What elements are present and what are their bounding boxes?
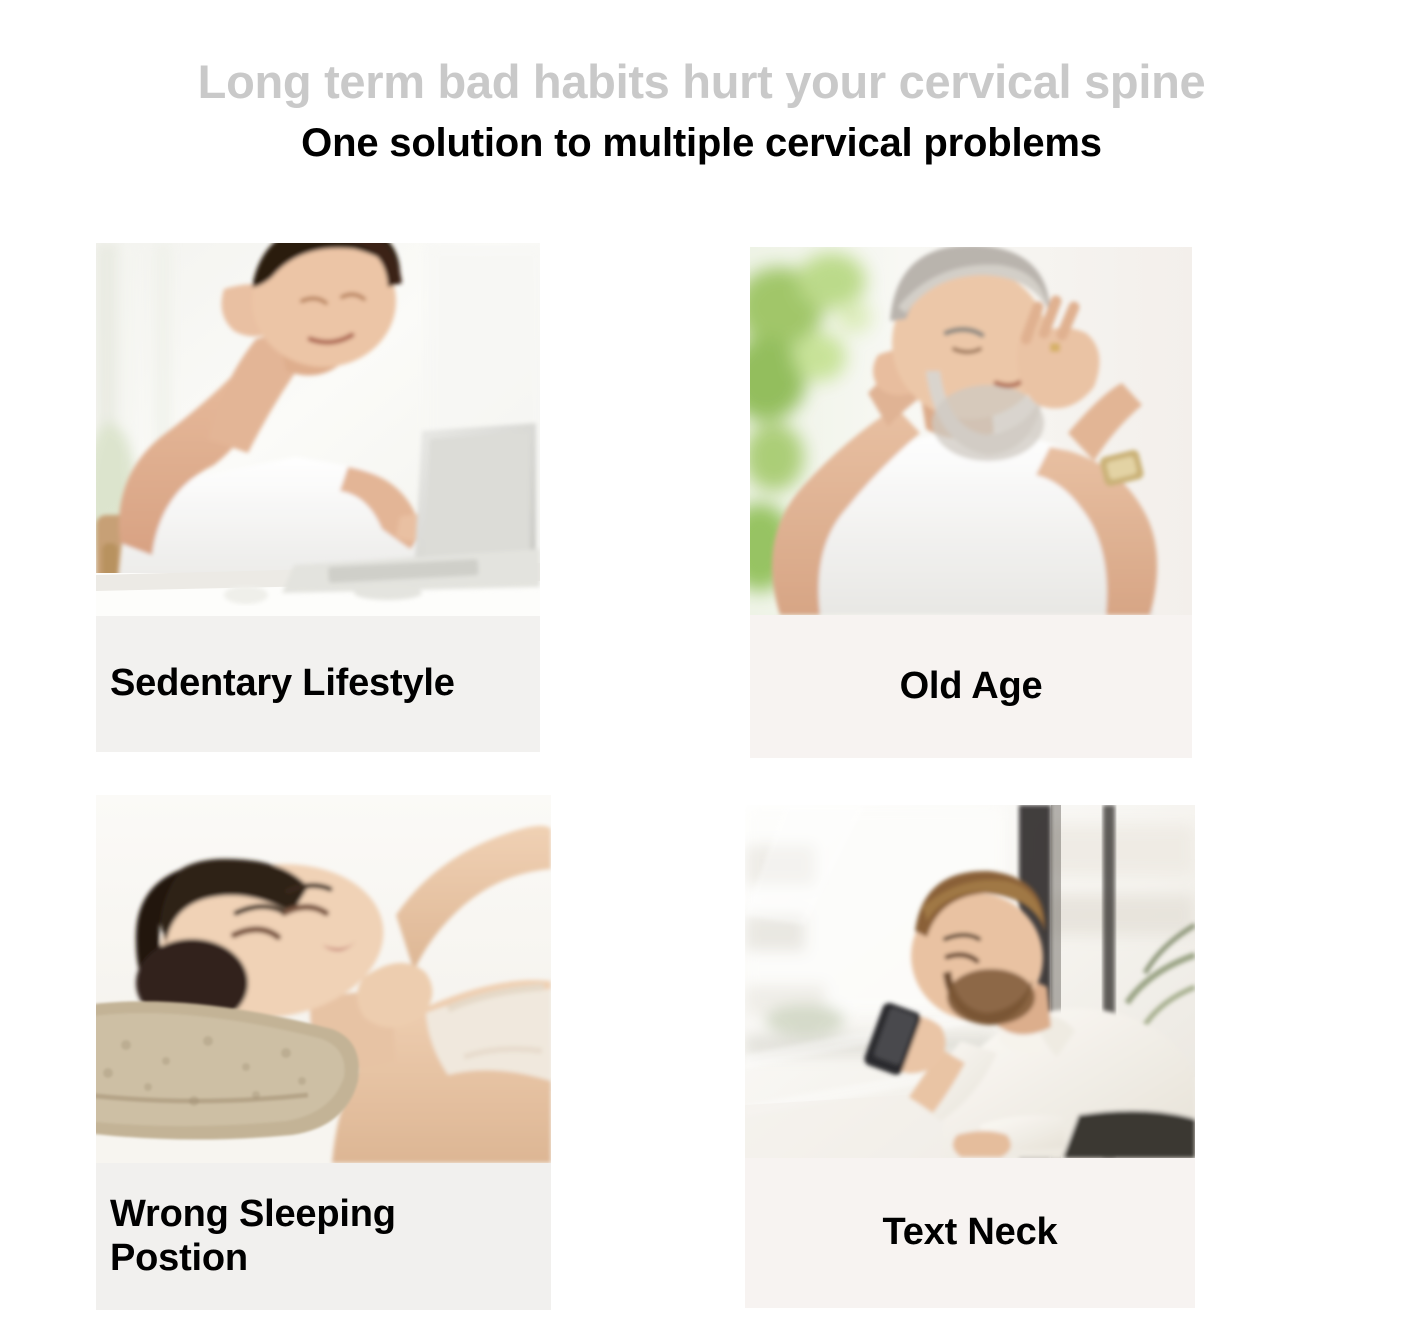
caption-wrong-sleeping-position: Wrong Sleeping Postion: [96, 1163, 551, 1310]
caption-old-age: Old Age: [750, 615, 1192, 758]
headline-main: One solution to multiple cervical proble…: [0, 105, 1403, 163]
card-sedentary-lifestyle: Sedentary Lifestyle: [96, 243, 540, 752]
photo-old-age: [750, 247, 1192, 615]
heading-block: Long term bad habits hurt your cervical …: [0, 0, 1403, 163]
caption-text: Sedentary Lifestyle: [110, 662, 455, 706]
caption-text: Old Age: [900, 665, 1043, 709]
caption-sedentary-lifestyle: Sedentary Lifestyle: [96, 616, 540, 752]
photo-text-neck: [745, 805, 1195, 1158]
card-wrong-sleeping-position: Wrong Sleeping Postion: [96, 795, 551, 1310]
caption-text: Wrong Sleeping Postion: [110, 1193, 396, 1280]
card-text-neck: Text Neck: [745, 805, 1195, 1308]
photo-sedentary-lifestyle: [96, 243, 540, 616]
headline-muted: Long term bad habits hurt your cervical …: [0, 0, 1403, 105]
caption-text: Text Neck: [883, 1211, 1058, 1255]
caption-text-neck: Text Neck: [745, 1158, 1195, 1308]
photo-wrong-sleeping-position: [96, 795, 551, 1163]
card-old-age: Old Age: [750, 247, 1192, 758]
